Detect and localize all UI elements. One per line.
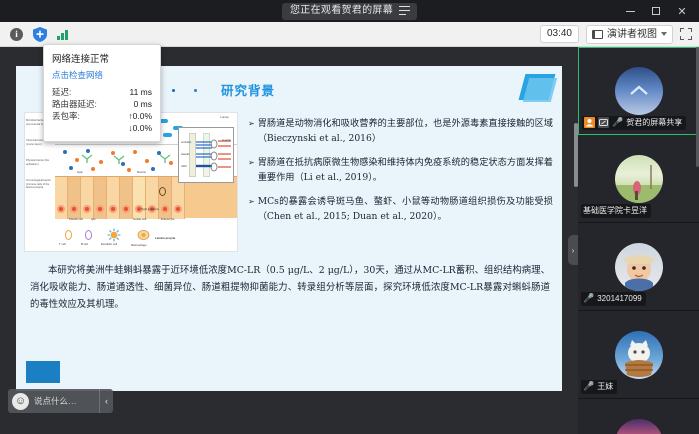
slide-bullet: ➢ MCs的暴露会诱导斑马鱼、螯虾、小鼠等动物肠道组织损伤及功能受损（Chen … bbox=[248, 194, 553, 224]
bullet-arrow-icon: ➢ bbox=[248, 194, 255, 224]
participant-namebar: 🎤 王妹 bbox=[581, 380, 617, 394]
window-controls: ✕ bbox=[617, 0, 695, 22]
packet-loss-row: 丢包率: ↑0.0% bbox=[52, 110, 152, 122]
diagram-label-claudin: claudin bbox=[181, 152, 190, 156]
avatar bbox=[615, 419, 663, 434]
slide-bullet-list: ➢ 胃肠道是动物消化和吸收营养的主要部位，也是外源毒素直接接触的区域（Biecz… bbox=[248, 116, 553, 233]
diagram-label-dendritic-cell: Dendritic cell bbox=[101, 242, 117, 246]
host-badge-icon bbox=[584, 117, 595, 128]
diagram-label-b-cell: B cell bbox=[81, 242, 88, 246]
router-latency-value: 0 ms bbox=[134, 98, 152, 110]
participant-rail[interactable]: 🎤 贺君的屏幕共享 基础医学院卡昱洋 bbox=[578, 47, 699, 434]
slide-bullet: ➢ 胃肠道在抵抗病原微生物感染和维持体内免疫系统的稳定状态方面发挥着重要作用（L… bbox=[248, 155, 553, 185]
meeting-timer: 03:40 bbox=[540, 25, 579, 43]
participant-name: 王妹 bbox=[597, 381, 613, 392]
diagram-label-jam: JAM bbox=[181, 164, 187, 168]
diagram-label-igg: IgG bbox=[91, 217, 96, 221]
chevron-down-icon[interactable] bbox=[661, 32, 667, 36]
bullet-arrow-icon: ➢ bbox=[248, 116, 255, 146]
diagram-macrophage-glyph bbox=[137, 229, 150, 241]
participant-name: 3201417099 bbox=[597, 294, 642, 303]
network-signal-icon[interactable] bbox=[54, 26, 71, 43]
participant-namebar: 🎤 贺君的屏幕共享 bbox=[582, 116, 686, 130]
maximize-button[interactable] bbox=[643, 0, 669, 22]
participant-tile[interactable]: 🎤 3201417099 bbox=[578, 223, 699, 311]
diagram-siga-glyph bbox=[113, 155, 125, 165]
diagram-label-mucins: Mucins bbox=[137, 170, 146, 174]
diagram-label-siga: sIgA bbox=[77, 170, 83, 174]
participant-name: 贺君的屏幕共享 bbox=[626, 117, 682, 128]
bullet-text: MCs的暴露会诱导斑马鱼、螯虾、小鼠等动物肠道组织损伤及功能受损（Chen et… bbox=[258, 194, 553, 224]
network-latency-label: 延迟: bbox=[52, 86, 71, 98]
sharing-notice-label: 您正在观看贺君的屏幕 bbox=[290, 5, 393, 17]
network-latency-value: 11 ms bbox=[129, 86, 152, 98]
chat-composer[interactable]: ☺ 说点什么… ‹ bbox=[8, 389, 113, 413]
minimize-button[interactable] bbox=[617, 0, 643, 22]
slide-footer-block bbox=[26, 361, 60, 383]
packet-loss-label: 丢包率: bbox=[52, 110, 80, 122]
diagram-tight-junction-inset: occludin claudin JAM F-actin bbox=[178, 127, 234, 183]
view-mode-label: 演讲者视图 bbox=[607, 28, 657, 41]
participant-tile[interactable]: 🎤 贺君的屏幕共享 bbox=[578, 47, 699, 135]
network-latency-row: 延迟: 11 ms bbox=[52, 86, 152, 98]
microphone-icon: 🎤 bbox=[612, 117, 623, 128]
diagram-label-t-cell: T cell bbox=[59, 242, 66, 246]
bullet-text: 胃肠道是动物消化和吸收营养的主要部位，也是外源毒素直接接触的区域（Bieczyn… bbox=[258, 116, 553, 146]
microphone-muted-icon: 🎤 bbox=[583, 381, 594, 392]
router-latency-label: 路由器延迟: bbox=[52, 98, 97, 110]
diagram-label-macrophage: Macrophage bbox=[131, 243, 147, 247]
microphone-muted-icon: 🎤 bbox=[583, 293, 594, 304]
participant-tile[interactable]: 基础医学院卡昱洋 bbox=[578, 135, 699, 223]
diagram-label-goblet-cell: Goblet cell bbox=[133, 217, 146, 221]
meeting-info-button[interactable]: i bbox=[8, 26, 25, 43]
network-status-title: 网络连接正常 bbox=[52, 51, 152, 65]
slide-title: 研究背景 bbox=[221, 80, 275, 99]
chat-input-placeholder[interactable]: 说点什么… bbox=[29, 395, 99, 407]
avatar bbox=[615, 331, 663, 379]
toolbar-right-controls: 03:40 演讲者视图 bbox=[540, 25, 699, 44]
packet-loss-down-value: ↓0.0% bbox=[52, 122, 152, 134]
view-mode-selector[interactable]: 演讲者视图 bbox=[586, 25, 673, 44]
participant-namebar: 基础医学院卡昱洋 bbox=[581, 204, 651, 218]
chat-collapse-button[interactable]: ‹ bbox=[99, 389, 113, 413]
participant-tile[interactable] bbox=[578, 399, 699, 434]
avatar bbox=[615, 243, 663, 291]
emoji-smiley-icon[interactable]: ☺ bbox=[12, 393, 29, 410]
toolbar-left-icons: i bbox=[0, 26, 71, 43]
diagram-label-enterocyte: Enterocyte bbox=[161, 217, 174, 221]
diagram-label-tight-junctions: Tight junctions bbox=[141, 207, 159, 211]
diagram-siga-glyph bbox=[81, 154, 93, 164]
diagram-label-paneth-cell: Paneth cell bbox=[69, 217, 83, 221]
diagram-lamina-propria: T cell B cell Dendritic cell Macrophage … bbox=[55, 227, 237, 251]
network-status-popup: 网络连接正常 点击检查网络 延迟: 11 ms 路由器延迟: 0 ms 丢包率:… bbox=[43, 44, 161, 142]
diagram-left-label: Physical barrier (the epithelium) bbox=[26, 159, 54, 166]
meeting-window: 您正在观看贺君的屏幕 ✕ i bbox=[0, 0, 699, 434]
bullet-text: 胃肠道在抵抗病原微生物感染和维持体内免疫系统的稳定状态方面发挥着重要作用（Li … bbox=[258, 155, 553, 185]
diagram-dendritic-cell-glyph bbox=[107, 228, 121, 242]
stage-collapse-arrow[interactable]: › bbox=[568, 235, 578, 265]
fullscreen-icon[interactable] bbox=[680, 28, 692, 40]
avatar bbox=[615, 67, 663, 115]
participant-tile[interactable]: 🎤 王妹 bbox=[578, 311, 699, 399]
participant-namebar: 🎤 3201417099 bbox=[581, 292, 646, 306]
screen-share-badge-icon bbox=[598, 117, 609, 128]
diagram-siga-glyph bbox=[159, 154, 171, 164]
sharing-notice-pill[interactable]: 您正在观看贺君的屏幕 bbox=[282, 3, 417, 20]
bullet-arrow-icon: ➢ bbox=[248, 155, 255, 185]
router-latency-row: 路由器延迟: 0 ms bbox=[52, 98, 152, 110]
participant-name: 基础医学院卡昱洋 bbox=[583, 205, 647, 216]
slide-corner-decoration bbox=[518, 74, 554, 104]
diagram-label-occludin: occludin bbox=[181, 140, 191, 144]
diagram-label-lamina-propria: Lamina propria bbox=[155, 236, 175, 240]
speaker-view-icon bbox=[592, 30, 603, 39]
diagram-label-f-actin: F-actin bbox=[222, 138, 231, 142]
close-button[interactable]: ✕ bbox=[669, 0, 695, 22]
avatar bbox=[615, 155, 663, 203]
slide-summary-paragraph: 本研究将美洲牛蛙蝌蚪暴露于近环境低浓度MC-LR（0.5 μg/L、2 μg/L… bbox=[30, 262, 550, 313]
security-shield-icon[interactable] bbox=[31, 26, 48, 43]
title-bar: 您正在观看贺君的屏幕 ✕ bbox=[0, 0, 699, 22]
diagram-left-label: Immunological barrier (immune cells of t… bbox=[26, 179, 54, 190]
check-network-link[interactable]: 点击检查网络 bbox=[52, 69, 152, 81]
slide-bullet: ➢ 胃肠道是动物消化和吸收营养的主要部位，也是外源毒素直接接触的区域（Biecz… bbox=[248, 116, 553, 146]
packet-loss-up-value: ↑0.0% bbox=[128, 110, 152, 122]
hamburger-menu-icon[interactable] bbox=[399, 6, 410, 15]
